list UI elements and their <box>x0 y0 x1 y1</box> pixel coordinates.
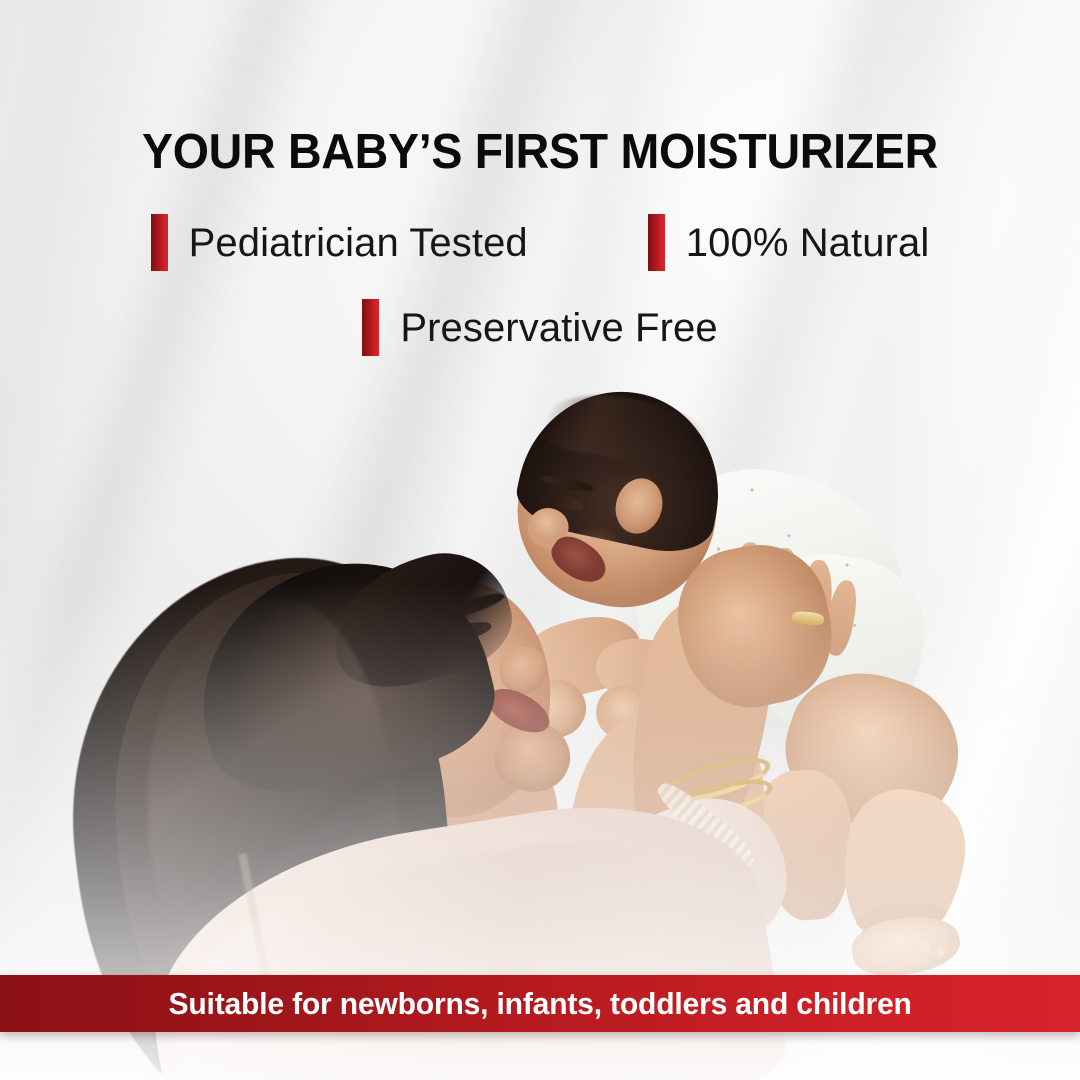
feature-item-preservative-free: Preservative Free <box>362 299 717 356</box>
promo-banner-canvas: YOUR BABY’S FIRST MOISTURIZER Pediatrici… <box>0 0 1080 1080</box>
feature-row-secondary: Preservative Free <box>0 299 1080 356</box>
feature-item-100-natural: 100% Natural <box>648 214 930 271</box>
red-bar-icon <box>362 299 379 356</box>
feature-item-pediatrician-tested: Pediatrician Tested <box>151 214 528 271</box>
feature-label: Pediatrician Tested <box>189 223 528 263</box>
suitability-banner-text: Suitable for newborns, infants, toddlers… <box>168 988 911 1019</box>
red-bar-icon <box>648 214 665 271</box>
red-bar-icon <box>151 214 168 271</box>
feature-row-primary: Pediatrician Tested 100% Natural <box>0 214 1080 271</box>
feature-label: 100% Natural <box>686 223 930 263</box>
page-title: YOUR BABY’S FIRST MOISTURIZER <box>27 128 1053 177</box>
feature-list: Pediatrician Tested 100% Natural Preserv… <box>0 214 1080 356</box>
suitability-banner: Suitable for newborns, infants, toddlers… <box>0 975 1080 1032</box>
feature-label: Preservative Free <box>400 308 717 348</box>
